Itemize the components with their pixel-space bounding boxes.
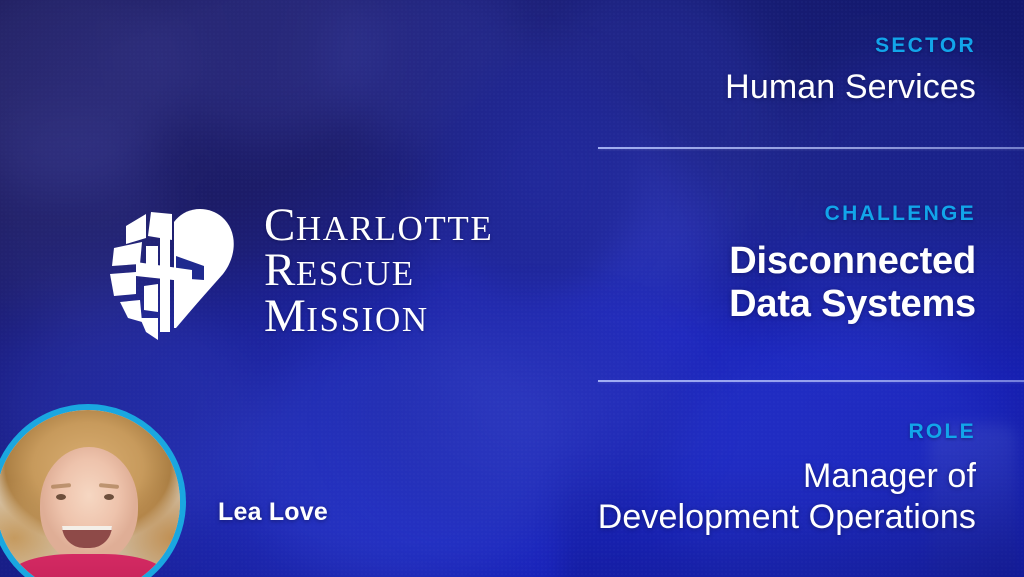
info-block-sector: SECTOR Human Services — [570, 0, 976, 147]
challenge-value-line-1: Disconnected — [729, 240, 976, 283]
challenge-value-line-2: Data Systems — [729, 283, 976, 326]
role-value-line-1: Manager of — [598, 456, 976, 496]
challenge-value: Disconnected Data Systems — [729, 240, 976, 325]
logo-initial: R — [264, 244, 296, 296]
logo-initial: M — [264, 290, 306, 342]
logo-rest: ISSION — [306, 300, 428, 339]
role-value-line-2: Development Operations — [598, 497, 976, 537]
logo-rest: HARLOTTE — [296, 209, 494, 248]
sector-value: Human Services — [725, 68, 976, 107]
organization-name: CHARLOTTE RESCUE MISSION — [264, 203, 493, 340]
broken-heart-cross-icon — [96, 196, 246, 346]
challenge-label: CHALLENGE — [825, 202, 976, 226]
avatar-eye-left — [56, 494, 66, 500]
logo-line-1: CHARLOTTE — [264, 203, 493, 249]
role-value: Manager of Development Operations — [598, 456, 976, 536]
role-label: ROLE — [908, 420, 976, 444]
divider-challenge-role — [598, 380, 1024, 382]
person-name: Lea Love — [218, 498, 328, 527]
logo-rest: ESCUE — [296, 254, 415, 293]
organization-logo: CHARLOTTE RESCUE MISSION — [96, 196, 493, 346]
divider-sector-challenge — [598, 147, 1024, 149]
avatar-eye-right — [104, 494, 114, 500]
avatar — [0, 404, 186, 577]
info-block-role: ROLE Manager of Development Operations — [570, 380, 976, 577]
info-block-challenge: CHALLENGE Disconnected Data Systems — [570, 147, 976, 380]
avatar-photo — [0, 410, 180, 577]
info-column: SECTOR Human Services CHALLENGE Disconne… — [570, 0, 1024, 577]
logo-line-2: RESCUE — [264, 248, 493, 294]
logo-initial: C — [264, 199, 296, 251]
case-study-hero-card: CHARLOTTE RESCUE MISSION Lea Love SECTOR… — [0, 0, 1024, 577]
sector-label: SECTOR — [875, 34, 976, 58]
logo-line-3: MISSION — [264, 294, 493, 340]
